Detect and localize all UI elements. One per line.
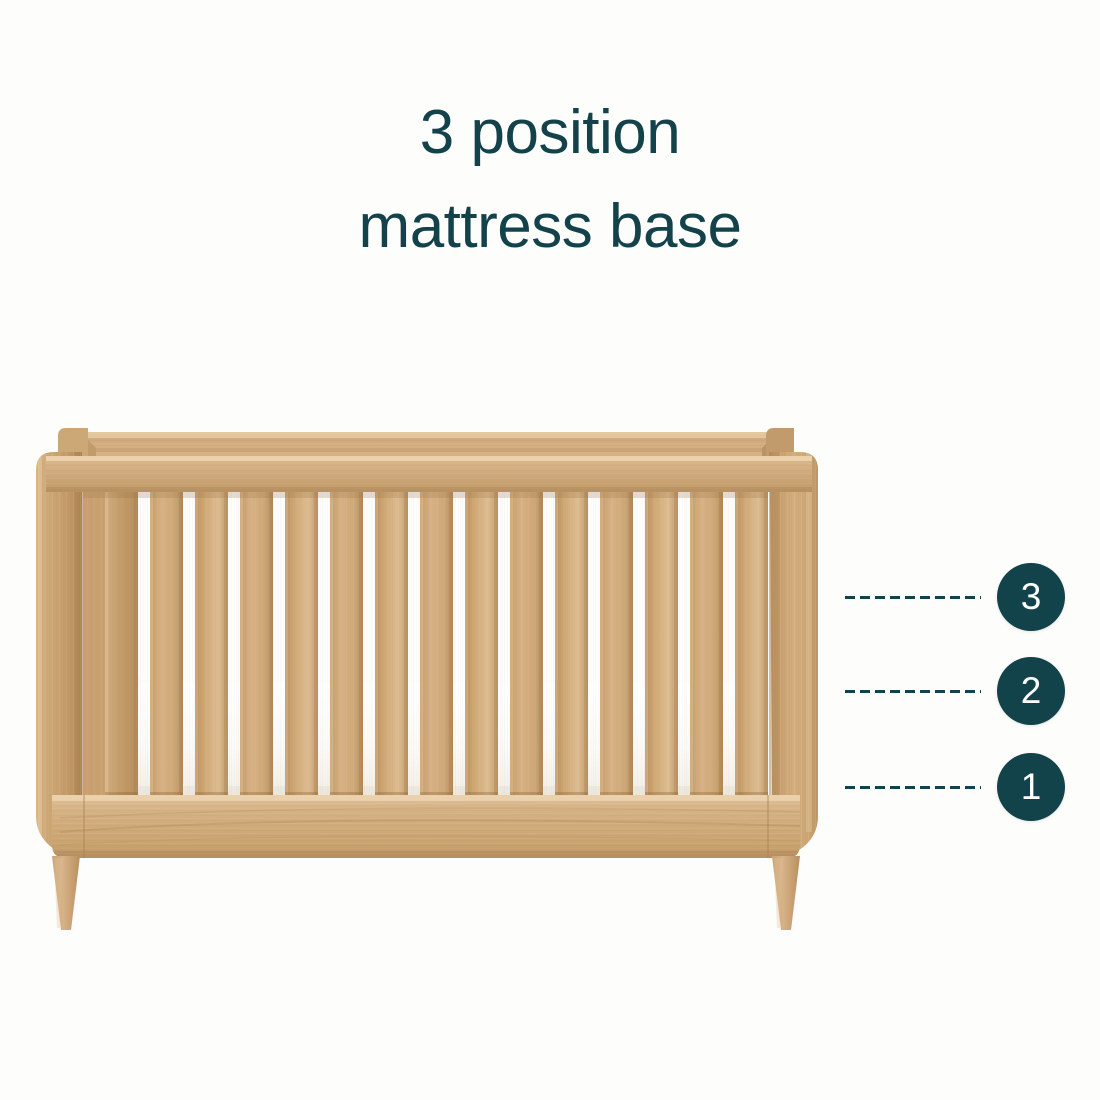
cot-bottom-panel xyxy=(52,795,800,858)
callout-badge-2: 2 xyxy=(997,657,1065,725)
cot-front-top-rail xyxy=(46,456,812,498)
cot-bed-illustration xyxy=(0,0,1100,1100)
callout-badge-3: 3 xyxy=(997,563,1065,631)
cot-legs xyxy=(52,856,800,930)
callout-line-2 xyxy=(845,690,981,693)
cot-slats xyxy=(83,485,768,800)
callout-line-3 xyxy=(845,596,981,599)
product-feature-graphic: 3 position mattress base xyxy=(0,0,1100,1100)
callout-line-1 xyxy=(845,786,981,789)
callout-badge-1: 1 xyxy=(997,753,1065,821)
